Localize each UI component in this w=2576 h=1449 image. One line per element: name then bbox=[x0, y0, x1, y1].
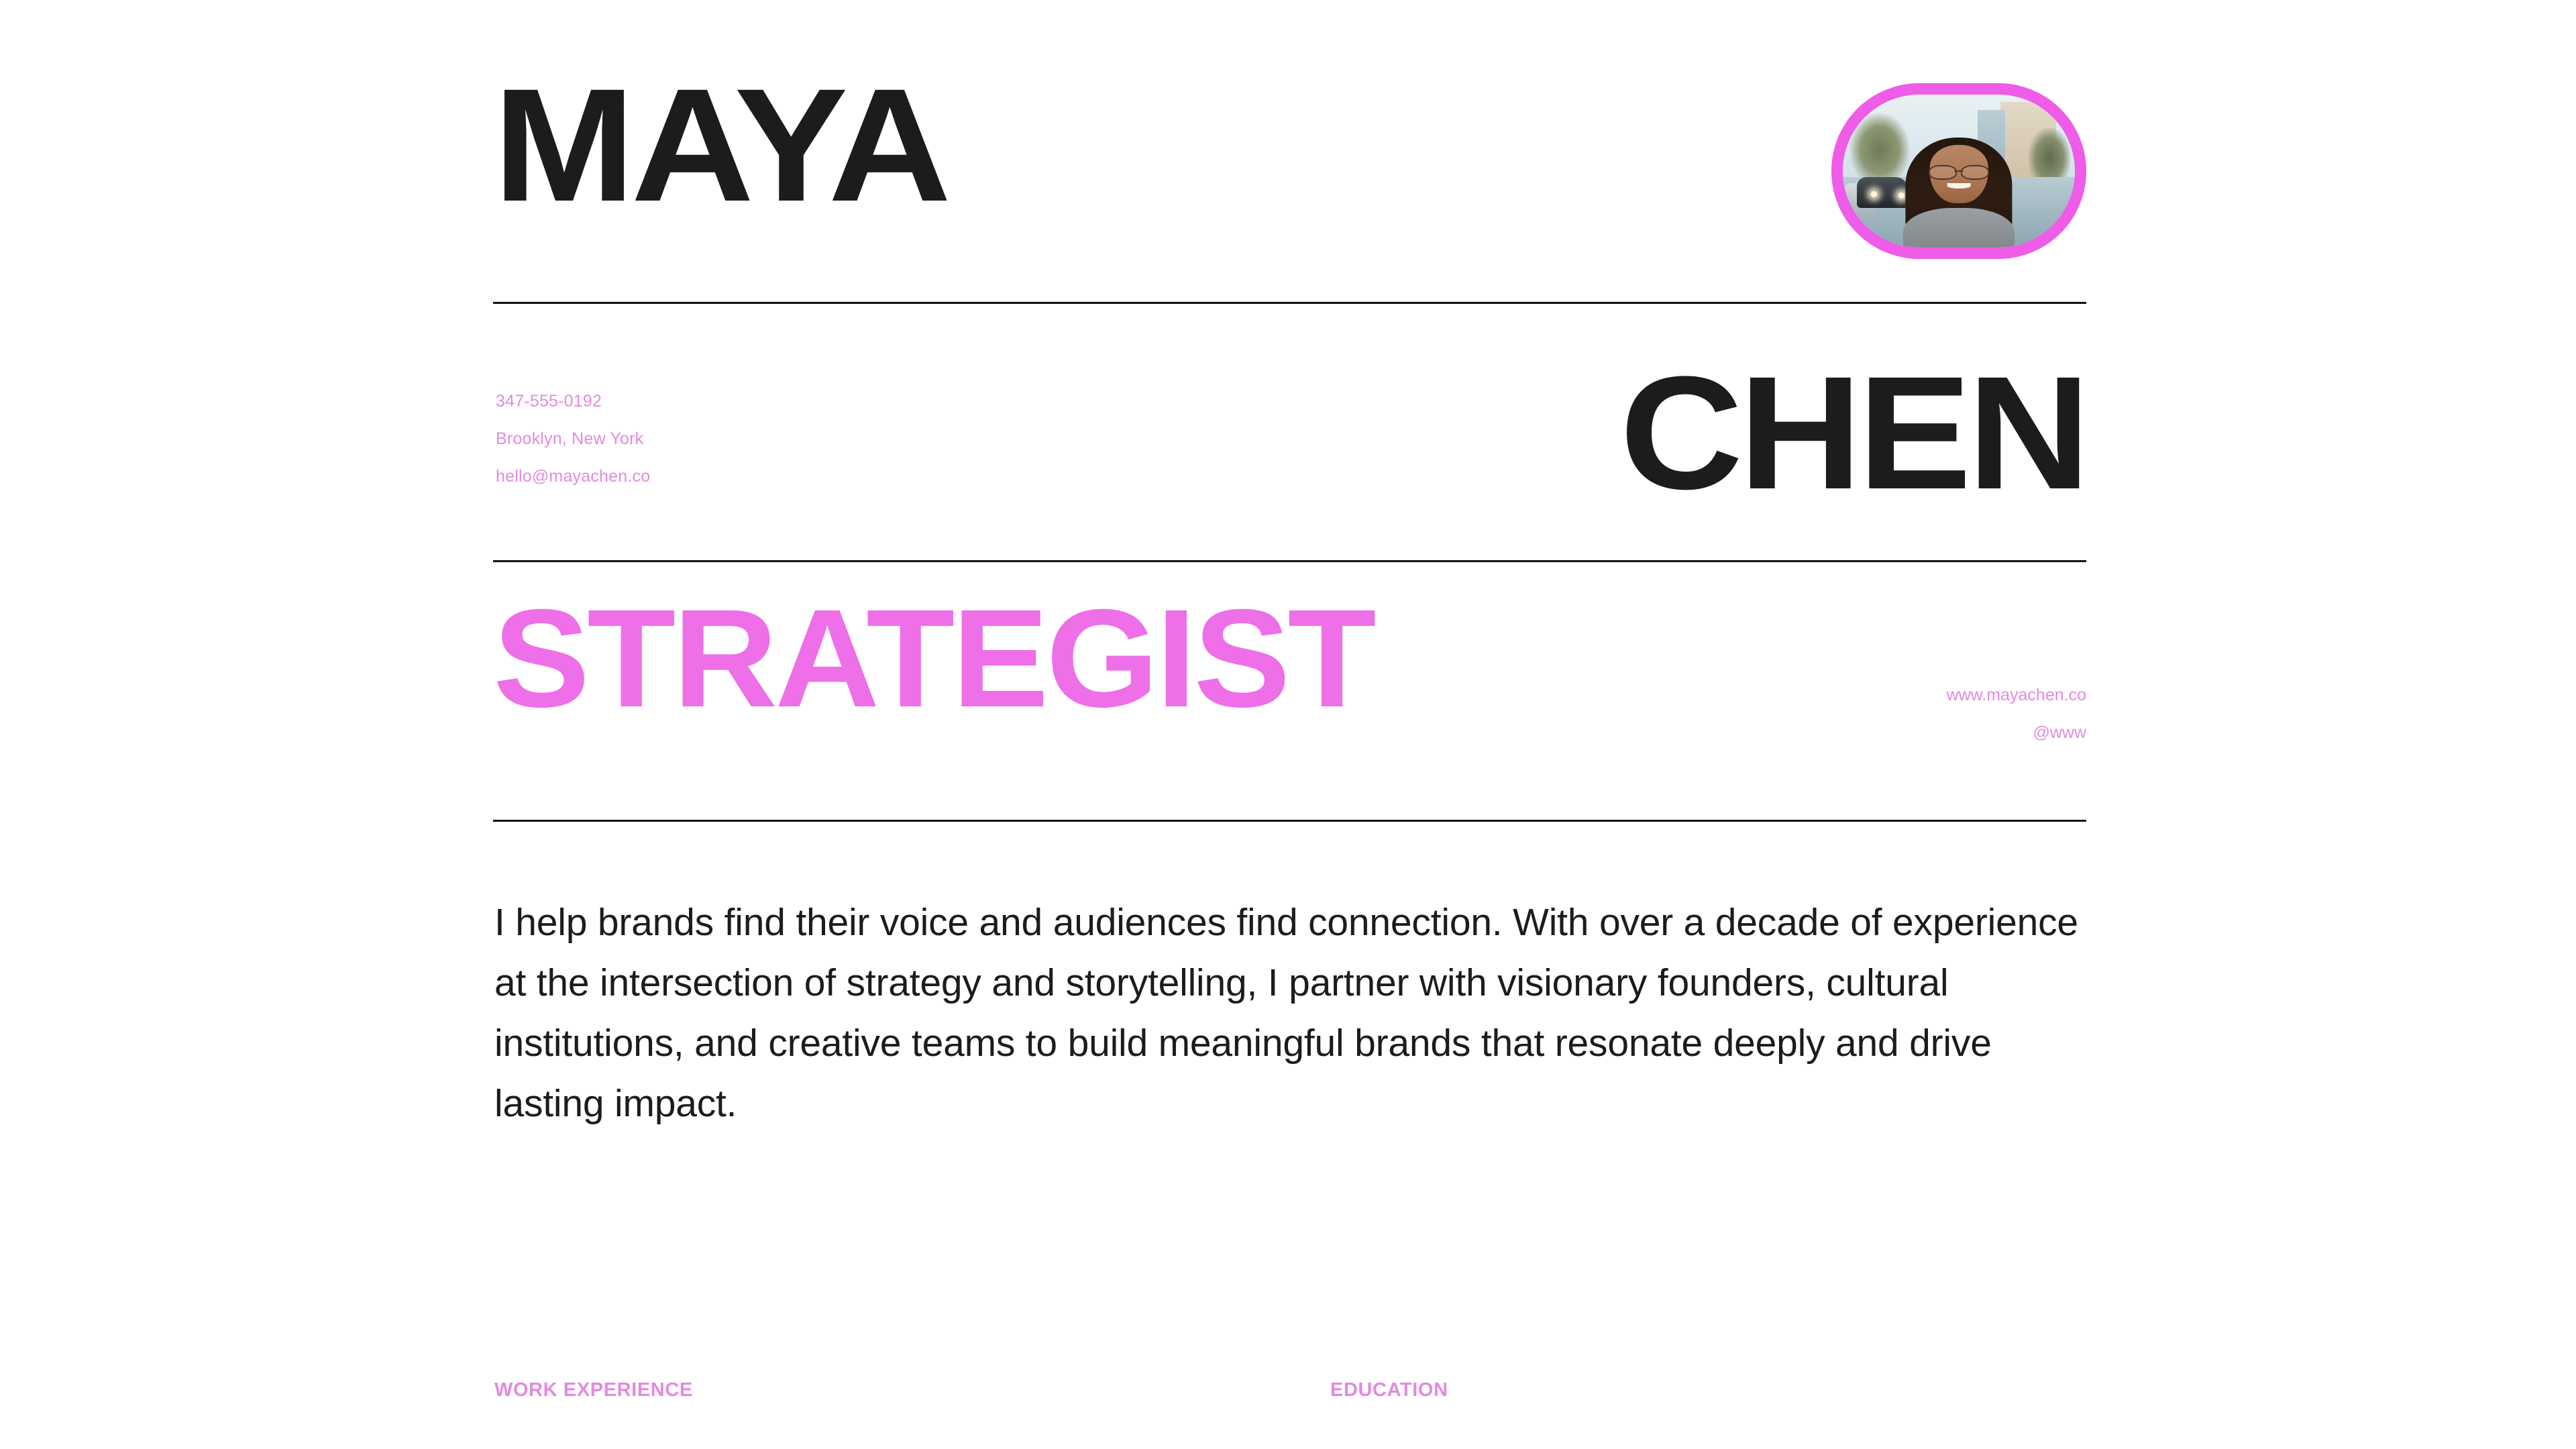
link-list: www.mayachen.co @www bbox=[1947, 676, 2086, 751]
glasses-lens-right bbox=[1961, 165, 1989, 180]
divider-rule-top bbox=[493, 302, 2086, 304]
resume-content-column: MAYA bbox=[493, 0, 2086, 1449]
page-title-first-name: MAYA bbox=[493, 64, 947, 225]
contact-list: 347-555-0192 Brooklyn, New York hello@ma… bbox=[496, 382, 650, 495]
photo-headlight-left bbox=[1871, 191, 1877, 197]
glasses-lens-left bbox=[1929, 165, 1957, 180]
photo-person-torso bbox=[1903, 208, 2015, 248]
contact-email[interactable]: hello@mayachen.co bbox=[496, 458, 650, 495]
page-title-last-name: CHEN bbox=[1620, 352, 2086, 513]
resume-page: MAYA bbox=[0, 0, 2576, 1449]
glasses-icon bbox=[1929, 165, 1989, 177]
contact-name-row: 347-555-0192 Brooklyn, New York hello@ma… bbox=[493, 315, 2086, 557]
divider-rule-bottom bbox=[493, 820, 2086, 822]
link-website[interactable]: www.mayachen.co bbox=[1947, 676, 2086, 714]
role-title: STRATEGIST bbox=[493, 589, 1373, 729]
contact-location[interactable]: Brooklyn, New York bbox=[496, 420, 650, 458]
photo-tree-right bbox=[2029, 128, 2070, 183]
role-links-row: STRATEGIST www.mayachen.co @www bbox=[493, 577, 2086, 812]
contact-phone[interactable]: 347-555-0192 bbox=[496, 382, 650, 420]
section-heading-education: EDUCATION bbox=[1330, 1377, 1448, 1403]
divider-rule-middle bbox=[493, 560, 2086, 562]
avatar bbox=[1831, 83, 2086, 259]
summary-paragraph: I help brands find their voice and audie… bbox=[494, 892, 2091, 1134]
photo-headlight-right bbox=[1898, 193, 1904, 199]
header-name-row: MAYA bbox=[493, 64, 2086, 274]
link-social[interactable]: @www bbox=[1947, 714, 2086, 751]
section-heading-work-experience: WORK EXPERIENCE bbox=[494, 1377, 693, 1403]
section-header-row: WORK EXPERIENCE EDUCATION bbox=[493, 1377, 2086, 1417]
photo-tree-left bbox=[1849, 113, 1910, 180]
avatar-photo bbox=[1843, 95, 2075, 248]
